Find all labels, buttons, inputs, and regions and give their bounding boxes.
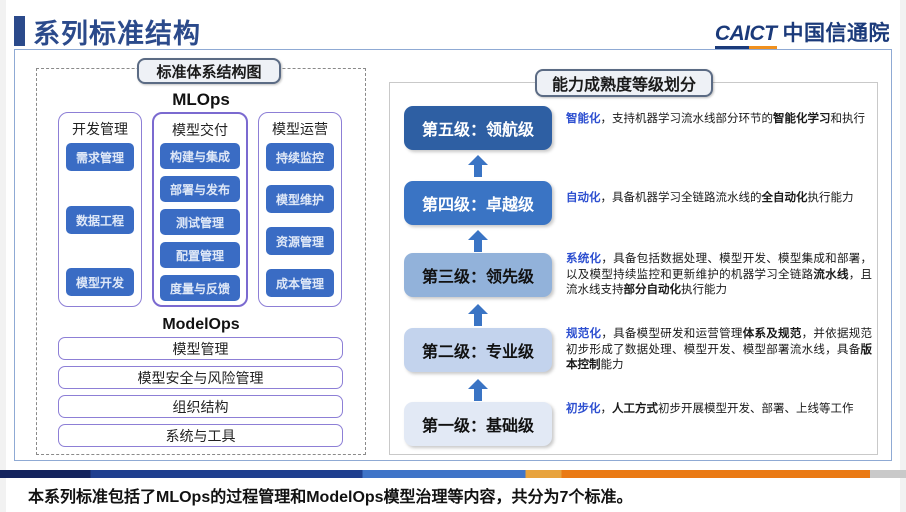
item-model-development[interactable]: 模型开发 [66, 268, 134, 296]
arrow-up-icon-1-to-2 [468, 379, 488, 401]
modelops-row-model-management[interactable]: 模型管理 [58, 337, 343, 360]
arrow-up-icon-3-to-4 [468, 230, 488, 252]
item-model-maintenance[interactable]: 模型维护 [266, 185, 334, 213]
desc-text: ，具备机器学习全链路流水线的 [601, 192, 762, 204]
page-title: 系列标准结构 [33, 12, 201, 51]
item-deploy-release[interactable]: 部署与发布 [160, 176, 240, 202]
desc-text: ， [601, 403, 613, 415]
column-title: 开发管理 [59, 119, 141, 139]
maturity-level-1[interactable]: 第一级：基础级 [404, 402, 552, 446]
mlops-label: MLOps [36, 90, 366, 110]
logo-chinese-text: 中国信通院 [783, 17, 891, 47]
modelops-row-org-structure[interactable]: 组织结构 [58, 395, 343, 418]
desc-text: 和执行 [831, 113, 866, 125]
item-data-engineering[interactable]: 数据工程 [66, 206, 134, 234]
maturity-desc-3: 系统化，具备包括数据处理、模型开发、模型集成和部署，以及模型持续监控和更新维护的… [566, 252, 872, 299]
item-continuous-monitoring[interactable]: 持续监控 [266, 143, 334, 171]
desc-keyword: 自动化 [566, 192, 601, 204]
maturity-desc-1: 初步化，人工方式初步开展模型开发、部署、上线等工作 [566, 402, 872, 418]
desc-emphasis: 部分自动化 [624, 284, 682, 296]
maturity-desc-4: 自动化，具备机器学习全链路流水线的全自动化执行能力 [566, 191, 872, 207]
modelops-row-security-risk[interactable]: 模型安全与风险管理 [58, 366, 343, 389]
slide-header: 系列标准结构 CAICT 中国信通院 [0, 8, 906, 52]
desc-text: 执行能力 [808, 192, 854, 204]
desc-text: 初步开展模型开发、部署、上线等工作 [658, 403, 854, 415]
desc-keyword: 初步化 [566, 403, 601, 415]
desc-keyword: 系统化 [566, 253, 601, 265]
item-resource-management[interactable]: 资源管理 [266, 227, 334, 255]
maturity-level-2[interactable]: 第二级：专业级 [404, 328, 552, 372]
desc-emphasis: 全自动化 [762, 192, 808, 204]
standard-structure-badge: 标准体系结构图 [137, 58, 281, 84]
item-cost-management[interactable]: 成本管理 [266, 269, 334, 297]
footer-summary-text: 本系列标准包括了MLOps的过程管理和ModelOps模型治理等内容，共分为7个… [28, 483, 632, 507]
title-accent-bar [14, 16, 25, 46]
column-title: 模型运营 [259, 119, 341, 139]
item-requirement-management[interactable]: 需求管理 [66, 143, 134, 171]
maturity-desc-5: 智能化，支持机器学习流水线部分环节的智能化学习和执行 [566, 112, 872, 128]
item-test-management[interactable]: 测试管理 [160, 209, 240, 235]
desc-text: 执行能力 [681, 284, 727, 296]
footer-gradient-bar [0, 470, 906, 478]
arrow-up-icon-2-to-3 [468, 304, 488, 326]
desc-text: 能力 [601, 359, 624, 371]
item-metrics-feedback[interactable]: 度量与反馈 [160, 275, 240, 301]
item-build-integration[interactable]: 构建与集成 [160, 143, 240, 169]
modelops-row-systems-tools[interactable]: 系统与工具 [58, 424, 343, 447]
slide-right-edge [900, 0, 906, 512]
modelops-label: ModelOps [36, 316, 366, 334]
logo-mark-text: CAICT [715, 22, 777, 49]
arrow-up-icon-4-to-5 [468, 155, 488, 177]
desc-text: ，具备模型研发和运营管理 [601, 328, 742, 340]
maturity-desc-2: 规范化，具备模型研发和运营管理体系及规范，并依据规范初步形成了数据处理、模型开发… [566, 327, 872, 374]
desc-keyword: 规范化 [566, 328, 601, 340]
desc-text: ，支持机器学习流水线部分环节的 [601, 113, 774, 125]
desc-emphasis: 流水线 [813, 269, 848, 281]
caict-logo: CAICT 中国信通院 [715, 17, 890, 49]
column-model-delivery: 模型交付 构建与集成 部署与发布 测试管理 配置管理 度量与反馈 [152, 112, 248, 307]
column-model-operations: 模型运营 持续监控 模型维护 资源管理 成本管理 [258, 112, 342, 307]
column-title: 模型交付 [154, 120, 246, 140]
slide: 系列标准结构 CAICT 中国信通院 标准体系结构图 MLOps 开发管理 需求… [0, 0, 906, 512]
maturity-level-4[interactable]: 第四级：卓越级 [404, 181, 552, 225]
item-config-management[interactable]: 配置管理 [160, 242, 240, 268]
column-dev-management: 开发管理 需求管理 数据工程 模型开发 [58, 112, 142, 307]
maturity-panel-badge: 能力成熟度等级划分 [535, 69, 713, 97]
desc-emphasis: 体系及规范 [743, 328, 802, 340]
desc-emphasis: 智能化学习 [773, 113, 831, 125]
maturity-level-3[interactable]: 第三级：领先级 [404, 253, 552, 297]
maturity-level-5[interactable]: 第五级：领航级 [404, 106, 552, 150]
slide-left-edge [0, 0, 6, 512]
desc-emphasis: 人工方式 [612, 403, 658, 415]
desc-keyword: 智能化 [566, 113, 601, 125]
